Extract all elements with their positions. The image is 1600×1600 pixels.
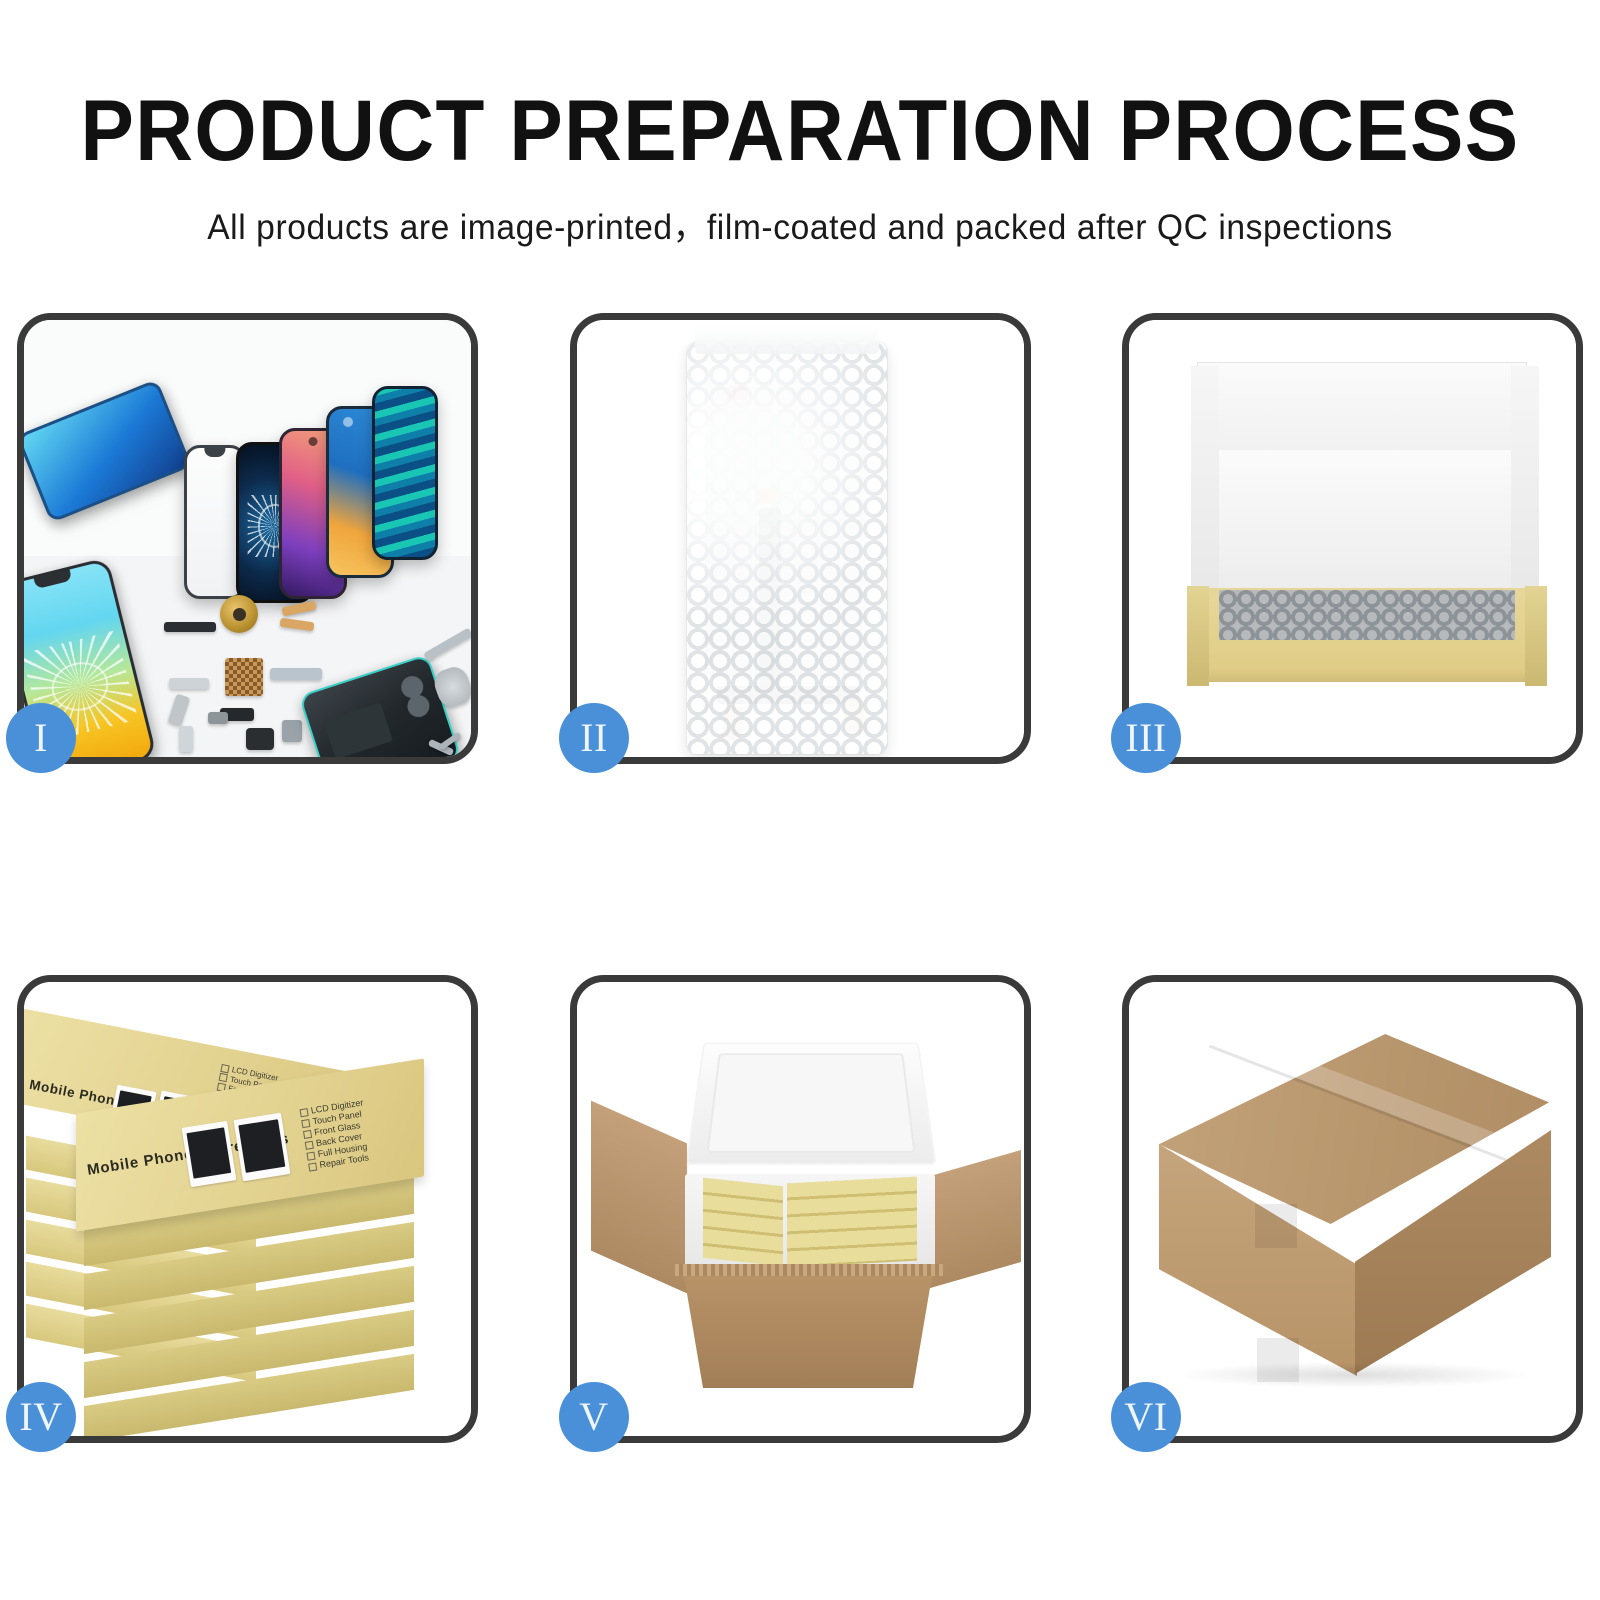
panel-step-6: VI (1122, 975, 1583, 1443)
teal-wave-phone (372, 386, 438, 560)
carton-flap-left (591, 1101, 687, 1294)
panel-6-image (1129, 982, 1576, 1436)
panel-2-image (577, 320, 1024, 757)
part-taptic-engine (246, 728, 274, 750)
carton-front-wall (683, 1270, 933, 1388)
part-logic-board-chip (225, 658, 263, 696)
page-title: PRODUCT PREPARATION PROCESS (56, 88, 1544, 174)
box-screen-image-top-1 (182, 1121, 237, 1187)
gold-box-stack-right (787, 1177, 917, 1268)
repair-brush-tool (423, 628, 471, 662)
foam-sheet (1213, 450, 1513, 590)
lid-left-fold (1191, 366, 1219, 598)
part-sim-tray (179, 726, 193, 752)
lid-right-fold (1511, 366, 1539, 598)
step-badge-6: VI (1111, 1382, 1181, 1452)
panel-step-2: II (570, 313, 1031, 764)
inner-box-scene (1129, 320, 1576, 757)
step-badge-3: III (1111, 703, 1181, 773)
panel-1-image (24, 320, 471, 757)
panel-5-image (577, 982, 1024, 1436)
part-side-flex (168, 694, 191, 727)
sealed-carton-scene (1129, 982, 1576, 1436)
carton-top-edge (675, 1264, 943, 1276)
phone-parts-scene (24, 320, 471, 757)
step-badge-1: I (6, 703, 76, 773)
tray-left-end (1187, 586, 1209, 686)
retail-box-stack-scene: Mobile Phone Spare Parts LCD Digitizer T… (24, 982, 471, 1436)
panel-3-image (1129, 320, 1576, 757)
step-badge-2: II (559, 703, 629, 773)
foam-carton-scene (577, 982, 1024, 1436)
bubble-wrap-bag (687, 342, 887, 754)
part-camera-module (282, 720, 302, 742)
panel-step-5: V (570, 975, 1031, 1443)
blue-back-panel (24, 379, 192, 523)
page-subtitle: All products are image-printed，film-coat… (32, 199, 1568, 250)
bag-sealed-top (695, 326, 879, 354)
panel-step-3: III (1122, 313, 1583, 764)
tray-right-end (1525, 586, 1547, 686)
gold-box-stack-left (703, 1178, 783, 1266)
part-flex-cable-b (280, 618, 315, 632)
bubble-wrap-cushion-top (1219, 590, 1515, 640)
part-antenna-flex (270, 668, 322, 680)
step-badge-5: V (559, 1382, 629, 1452)
panel-step-4: Mobile Phone Spare Parts LCD Digitizer T… (17, 975, 478, 1443)
box-lid-flap-back (1197, 362, 1527, 456)
foam-lid-inner (706, 1053, 915, 1152)
bubble-wrap-scene (577, 320, 1024, 757)
infographic-page: PRODUCT PREPARATION PROCESS All products… (0, 0, 1600, 1600)
carton-label-patch-upper (1255, 1204, 1297, 1248)
part-speaker-bar (164, 622, 216, 632)
box-checklist-top: LCD Digitizer Touch Panel Front Glass Ba… (299, 1097, 373, 1172)
box-screen-image-top-2 (233, 1113, 290, 1182)
retail-box-top: Mobile Phone Spare Parts LCD Digitizer T… (76, 1086, 424, 1226)
panel-4-image: Mobile Phone Spare Parts LCD Digitizer T… (24, 982, 471, 1436)
part-volume-flex (169, 678, 209, 689)
step-badge-4: IV (6, 1382, 76, 1452)
carton-shadow (1173, 1362, 1533, 1388)
panel-step-1: I (17, 313, 478, 764)
header: PRODUCT PREPARATION PROCESS All products… (0, 0, 1600, 250)
part-earpiece-mesh (208, 712, 228, 724)
